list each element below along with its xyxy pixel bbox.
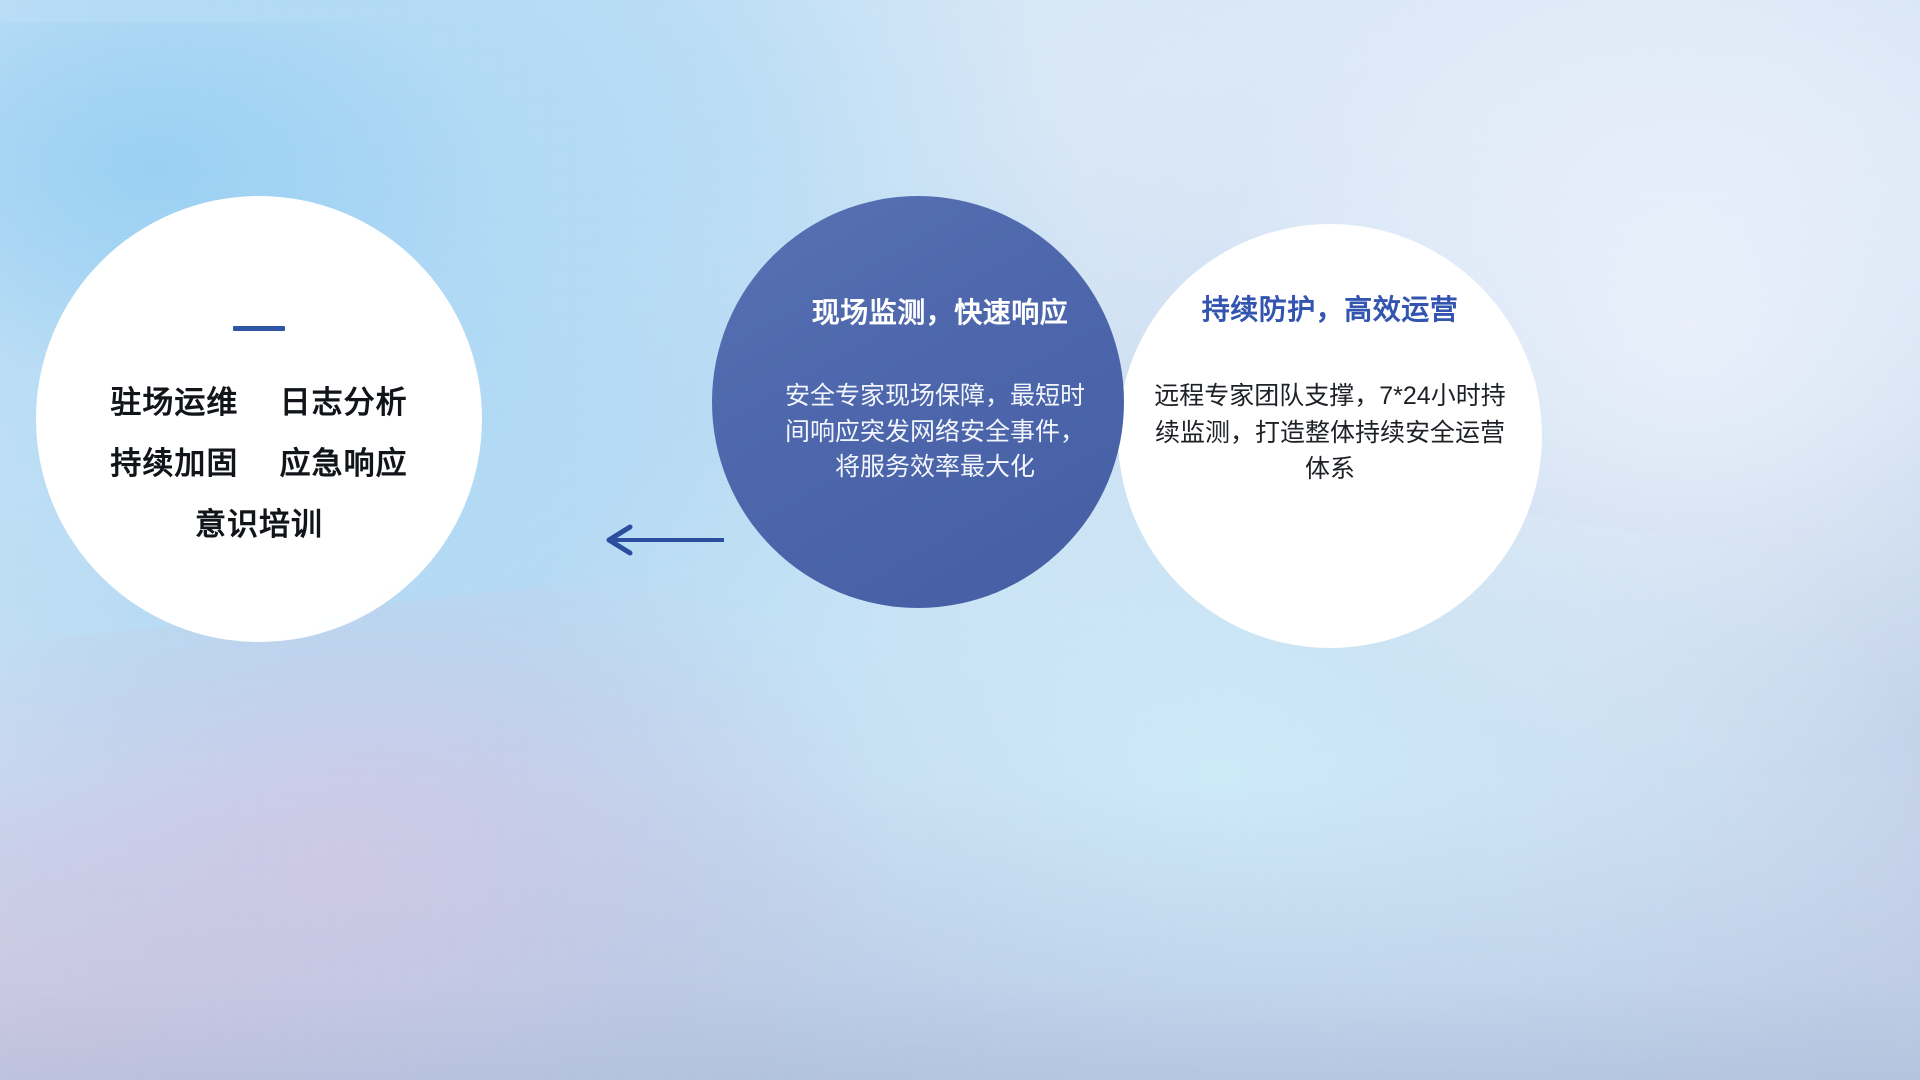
capability-label: 持续加固 [110,446,238,481]
arrow-left-icon [596,516,726,564]
continuous-defense-content: 持续防护，高效运营 远程专家团队支撑，7*24小时持续监测，打造整体持续安全运营… [1118,224,1542,648]
continuous-defense-title: 持续防护，高效运营 [1202,296,1459,324]
capability-row: 意识培训 [195,509,323,540]
capabilities-content: 驻场运维 日志分析 持续加固 应急响应 意识培训 [36,196,482,642]
capability-label: 应急响应 [280,446,408,481]
continuous-defense-body: 远程专家团队支撑，7*24小时持续监测，打造整体持续安全运营体系 [1152,378,1508,488]
onsite-monitoring-content: 现场监测，快速响应 安全专家现场保障，最短时间响应突发网络安全事件，将服务效率最… [712,196,1124,608]
capability-row: 持续加固 应急响应 [110,448,407,479]
capability-label: 意识培训 [195,507,323,542]
onsite-monitoring-title: 现场监测，快速响应 [768,299,1069,327]
capability-row: 驻场运维 日志分析 [110,387,407,418]
onsite-monitoring-body: 安全专家现场保障，最短时间响应突发网络安全事件，将服务效率最大化 [751,379,1085,486]
capability-label: 日志分析 [280,385,408,420]
accent-divider [233,326,285,331]
capability-label: 驻场运维 [110,385,238,420]
